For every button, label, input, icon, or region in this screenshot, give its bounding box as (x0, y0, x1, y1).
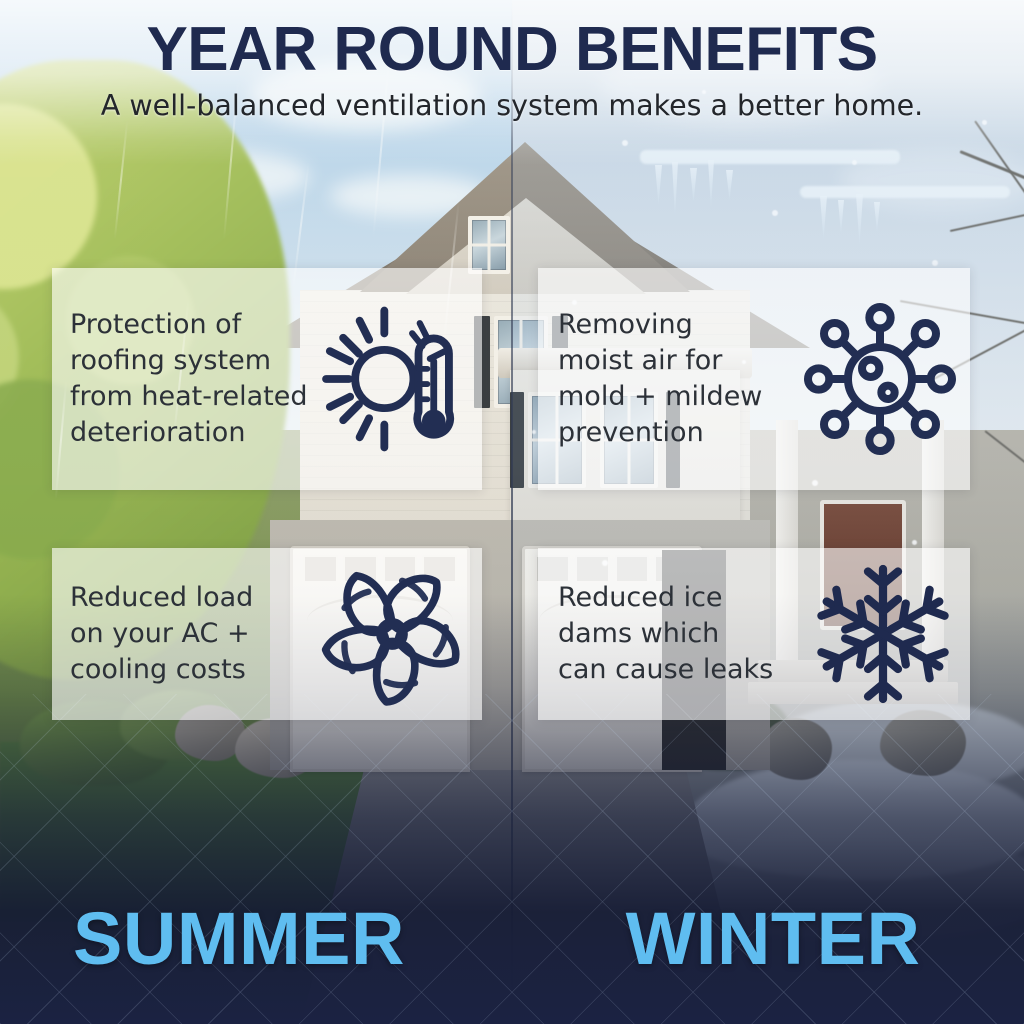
summer-text: SUMMER (73, 902, 439, 976)
page-title: YEAR ROUND BENEFITS (0, 0, 1024, 81)
page-subtitle: A well-balanced ventilation system makes… (0, 89, 1024, 123)
benefit-card-protection-roofing: Protection of roofing system from heat-r… (52, 268, 482, 490)
header: YEAR ROUND BENEFITS A well-balanced vent… (0, 0, 1024, 123)
benefit-text: Reduced ice dams which can cause leaks (558, 580, 795, 688)
winter-text: WINTER (616, 902, 921, 976)
snowflake-icon (795, 559, 970, 709)
benefit-card-reduced-ac-load: Reduced load on your AC + cooling costs (52, 548, 482, 720)
mold-spore-icon (790, 299, 970, 459)
benefit-text: Removing moist air for mold + mildew pre… (558, 307, 790, 451)
fan-icon (302, 558, 482, 710)
sun-thermometer-icon (312, 303, 482, 455)
season-label-winter: WINTER (512, 854, 1024, 1024)
benefit-text: Reduced load on your AC + cooling costs (70, 580, 302, 688)
season-label-summer: SUMMER (0, 854, 512, 1024)
benefit-card-moisture-removal: Removing moist air for mold + mildew pre… (538, 268, 970, 490)
infographic-root: YEAR ROUND BENEFITS A well-balanced vent… (0, 0, 1024, 1024)
benefit-card-reduced-ice-dams: Reduced ice dams which can cause leaks (538, 548, 970, 720)
season-banner: SUMMER WINTER (0, 854, 1024, 1024)
benefit-text: Protection of roofing system from heat-r… (70, 307, 312, 451)
